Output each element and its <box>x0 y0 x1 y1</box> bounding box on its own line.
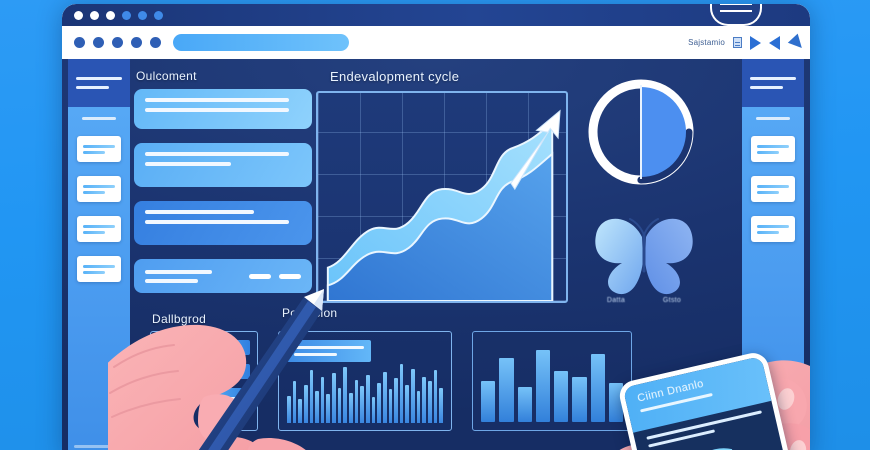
rail-header-line <box>750 77 796 80</box>
toolbar-dot-5[interactable] <box>150 37 161 48</box>
bar <box>411 369 415 423</box>
hero-chart-svg <box>318 93 566 301</box>
content-card-4[interactable] <box>134 259 312 293</box>
butterfly-wing-right <box>645 219 693 294</box>
sidebar-item-right-2[interactable] <box>751 176 795 202</box>
rail-card-line <box>83 271 105 274</box>
card-chip <box>249 274 271 279</box>
window-titlebar[interactable] <box>62 4 810 26</box>
app-canvas: Oulcoment <box>62 59 810 450</box>
mini-panel-bar-chart[interactable] <box>472 331 632 431</box>
card-line <box>145 98 289 102</box>
bar <box>439 388 443 423</box>
card-line <box>145 210 254 214</box>
bar <box>572 377 586 422</box>
hero-growth-chart[interactable] <box>316 91 568 303</box>
toolbar-dot-4[interactable] <box>131 37 142 48</box>
toolbar-status-label: Sajstamio <box>688 38 725 47</box>
left-rail-header <box>68 59 130 107</box>
butterfly-icon <box>588 207 700 299</box>
title-dot-6[interactable] <box>154 11 163 20</box>
toolbar-dot-1[interactable] <box>74 37 85 48</box>
content-card-1[interactable] <box>134 89 312 129</box>
sidebar-item-left-1[interactable] <box>77 136 121 162</box>
bar <box>417 391 421 423</box>
rail-card-line <box>83 231 105 234</box>
rail-card-line <box>83 185 115 188</box>
card-line <box>145 152 289 156</box>
rail-card-line <box>757 231 779 234</box>
title-dot-3[interactable] <box>106 11 115 20</box>
rail-card-line <box>83 191 105 194</box>
rail-divider <box>756 117 790 120</box>
bar <box>591 354 605 422</box>
toolbar-dot-2[interactable] <box>93 37 104 48</box>
card-line <box>145 270 212 274</box>
bar <box>422 377 426 423</box>
butterfly-label-left: Datta <box>607 297 625 304</box>
sidebar-item-left-4[interactable] <box>77 256 121 282</box>
content-card-3[interactable] <box>134 201 312 245</box>
hero-chart-title: Endevalopment cycle <box>330 69 459 84</box>
card-chip <box>279 274 301 279</box>
bar <box>481 381 495 422</box>
card-line <box>145 220 289 224</box>
bar <box>428 381 432 423</box>
bar <box>536 350 550 422</box>
cursor-icon[interactable] <box>786 34 802 52</box>
rail-card-line <box>83 145 115 148</box>
play-icon[interactable] <box>750 36 761 50</box>
title-dot-1[interactable] <box>74 11 83 20</box>
butterfly-wing-left <box>595 219 643 294</box>
butterfly-svg <box>588 207 700 299</box>
rail-card-line <box>757 145 789 148</box>
card-line <box>145 108 289 112</box>
bar <box>499 358 513 422</box>
rail-card-line <box>757 225 789 228</box>
hand-with-stylus <box>108 289 408 450</box>
rail-header-line <box>76 77 122 80</box>
address-bar[interactable] <box>173 34 349 51</box>
webcam-icon <box>710 4 762 26</box>
left-panel-title: Oulcoment <box>136 69 197 83</box>
toolbar-dot-3[interactable] <box>112 37 123 48</box>
rail-divider <box>82 117 116 120</box>
bar <box>554 371 568 422</box>
butterfly-label-right: Gtsto <box>663 297 681 304</box>
title-dot-2[interactable] <box>90 11 99 20</box>
rewind-icon[interactable] <box>769 36 780 50</box>
rail-header-line <box>750 86 783 89</box>
rail-card-line <box>757 151 779 154</box>
rail-card-line <box>83 225 115 228</box>
donut-chart-svg <box>582 73 700 191</box>
title-dot-5[interactable] <box>138 11 147 20</box>
header-donut-chart[interactable] <box>582 73 700 191</box>
bar <box>434 370 438 423</box>
browser-toolbar: Sajstamio <box>62 26 810 59</box>
rail-header-line <box>76 86 109 89</box>
panel-icon[interactable] <box>733 37 742 48</box>
rail-card-line <box>757 191 779 194</box>
card-line <box>145 279 198 283</box>
card-line <box>145 162 231 166</box>
butterfly-labels: Datta Gtsto <box>588 297 700 304</box>
browser-window: Sajstamio <box>62 4 810 450</box>
bar <box>518 387 532 422</box>
sidebar-item-left-2[interactable] <box>77 176 121 202</box>
rail-card-line <box>83 265 115 268</box>
rail-card-line <box>83 151 105 154</box>
sidebar-item-right-3[interactable] <box>751 216 795 242</box>
rail-card-line <box>757 185 789 188</box>
card-line-group <box>145 270 241 283</box>
sidebar-item-right-1[interactable] <box>751 136 795 162</box>
sidebar-item-left-3[interactable] <box>77 216 121 242</box>
screenshot-canvas: Sajstamio <box>0 0 870 450</box>
finger-thumb <box>246 438 318 450</box>
right-rail-header <box>742 59 804 107</box>
content-card-2[interactable] <box>134 143 312 187</box>
title-dot-4[interactable] <box>122 11 131 20</box>
content-card-list <box>134 89 312 307</box>
